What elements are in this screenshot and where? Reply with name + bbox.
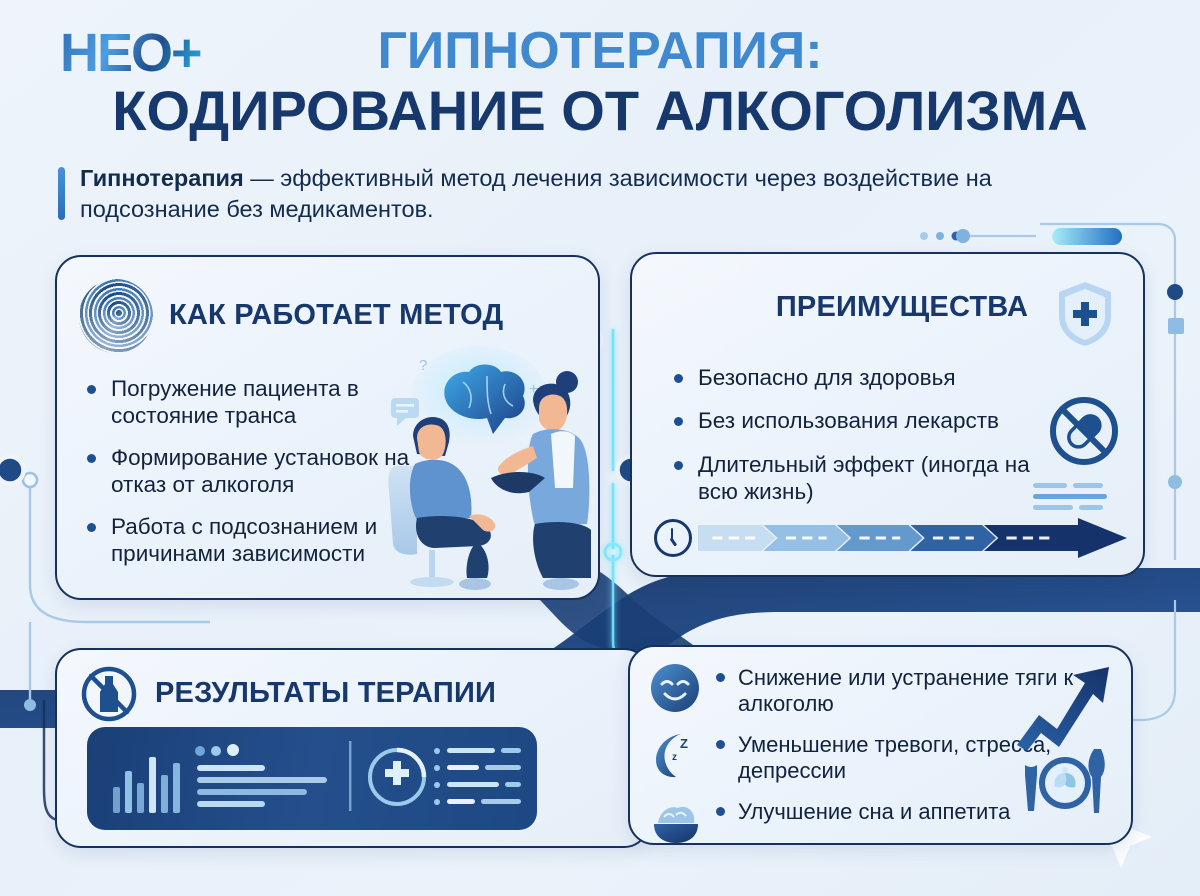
healthy-plate-icon — [1019, 745, 1111, 817]
results-dashboard-graphic — [87, 727, 537, 830]
outcome-text: Улучшение сна и аппетита — [714, 795, 1010, 825]
benefits-bullet-list: Безопасно для здоровья Без использования… — [672, 364, 1072, 522]
page-title-line2: КОДИРОВАНИЕ ОТ АЛКОГОЛИЗМА — [0, 81, 1200, 141]
hypnosis-spiral-icon — [79, 279, 153, 353]
therapy-session-illustration: ? + — [383, 338, 598, 598]
card-outcomes: Снижение или устранение тяги к алкоголю … — [628, 645, 1133, 845]
svg-text:?: ? — [419, 357, 427, 374]
results-card-header: РЕЗУЛЬТАТЫ ТЕРАПИИ — [57, 650, 648, 724]
method-bullet-list: Погружение пациента в состояние транса Ф… — [57, 353, 417, 568]
intro-paragraph: Гипнотерапия — эффективный метод лечения… — [58, 163, 1098, 226]
page-title: ГИПНОТЕРАПИЯ: КОДИРОВАНИЕ ОТ АЛКОГОЛИЗМА — [0, 24, 1200, 141]
page-title-line1: ГИПНОТЕРАПИЯ: — [0, 24, 1200, 79]
duration-timeline — [654, 517, 1127, 559]
list-item: Длительный эффект (иногда на всю жизнь) — [672, 451, 1072, 506]
timeline-arrow-progression — [698, 517, 1127, 559]
calm-face-icon — [648, 661, 702, 715]
intro-term: Гипнотерапия — [80, 165, 244, 191]
growth-arrow-icon — [1013, 661, 1113, 751]
svg-text:z: z — [672, 752, 677, 763]
food-bowl-icon — [648, 795, 702, 845]
list-item: Погружение пациента в состояние транса — [85, 375, 417, 430]
card-benefits: ПРЕИМУЩЕСТВА Безопасно для здоровья Без … — [630, 252, 1145, 577]
list-item: Формирование установок на отказ от алког… — [85, 444, 417, 499]
shield-plus-icon — [1055, 280, 1115, 348]
no-alcohol-bottle-icon — [79, 664, 139, 724]
list-item: Без использования лекарств — [672, 407, 1072, 434]
list-item: Безопасно для здоровья — [672, 364, 1072, 391]
results-card-title: РЕЗУЛЬТАТЫ ТЕРАПИИ — [155, 678, 496, 710]
sleeping-moon-icon: Z z — [648, 728, 702, 782]
benefits-card-title: ПРЕИМУЩЕСТВА — [752, 292, 1052, 324]
card-therapy-results: РЕЗУЛЬТАТЫ ТЕРАПИИ — [55, 648, 650, 848]
clock-icon — [654, 519, 692, 557]
infographic-canvas: HEO+ ГИПНОТЕРАПИЯ: КОДИРОВАНИЕ ОТ АЛКОГО… — [0, 0, 1200, 896]
list-item: Работа с подсознанием и причинами зависи… — [85, 513, 417, 568]
card-how-method-works: КАК РАБОТАЕТ МЕТОД Погружение пациента в… — [55, 255, 600, 600]
method-card-title: КАК РАБОТАЕТ МЕТОД — [169, 300, 503, 332]
svg-text:Z: Z — [680, 736, 688, 751]
